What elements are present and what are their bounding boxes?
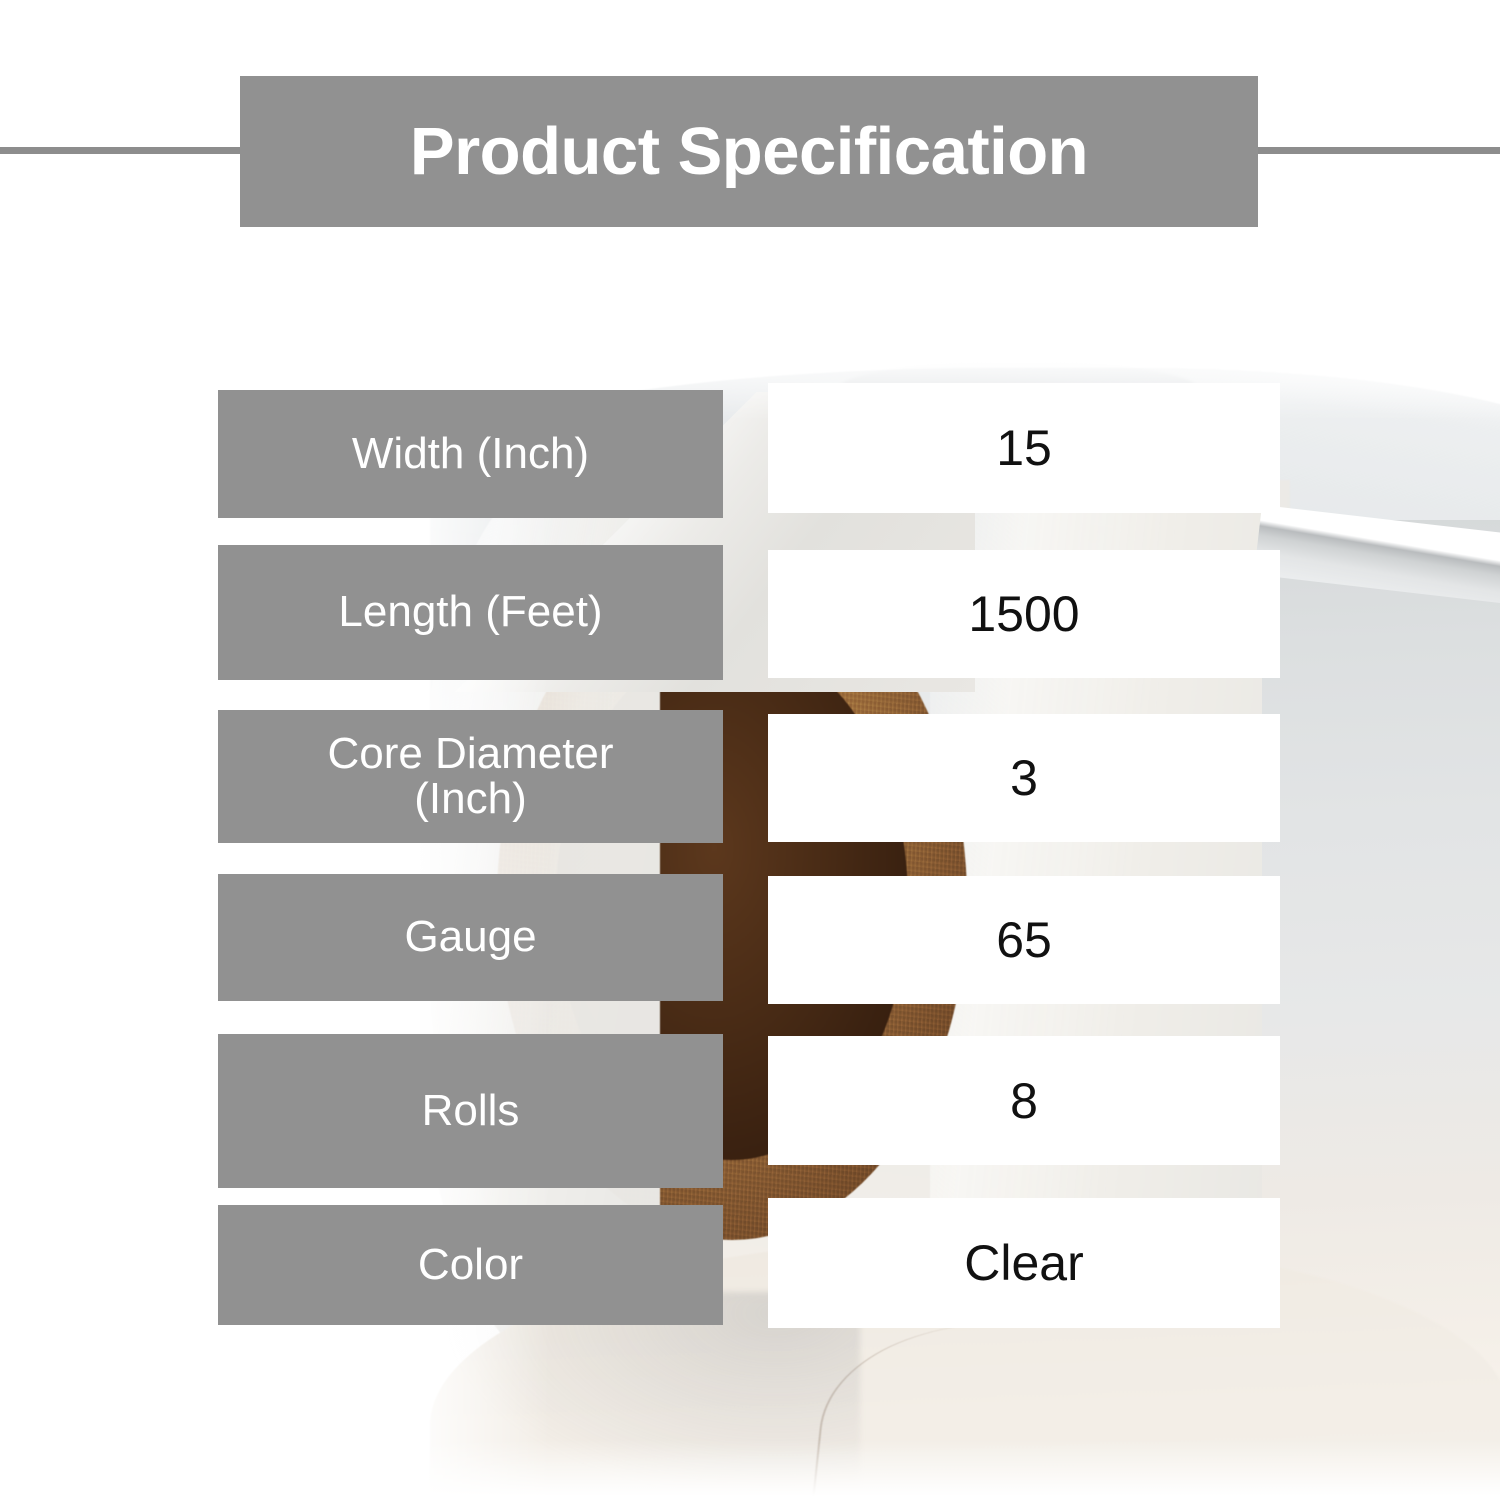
spec-label-core-diameter: Core Diameter (Inch) [218, 710, 723, 843]
spec-value-length: 1500 [768, 550, 1280, 678]
specification-table: Width (Inch) 15 Length (Feet) 1500 Core … [0, 0, 1500, 1500]
spec-value-core-diameter: 3 [768, 714, 1280, 842]
spec-value-width: 15 [768, 383, 1280, 513]
spec-label-gauge: Gauge [218, 874, 723, 1001]
product-specification-page: Product Specification Width (Inch) 15 Le… [0, 0, 1500, 1500]
spec-label-length: Length (Feet) [218, 545, 723, 680]
spec-value-gauge: 65 [768, 876, 1280, 1004]
spec-label-width: Width (Inch) [218, 390, 723, 518]
spec-label-rolls: Rolls [218, 1034, 723, 1188]
spec-label-color: Color [218, 1205, 723, 1325]
spec-value-rolls: 8 [768, 1036, 1280, 1165]
spec-value-color: Clear [768, 1198, 1280, 1328]
